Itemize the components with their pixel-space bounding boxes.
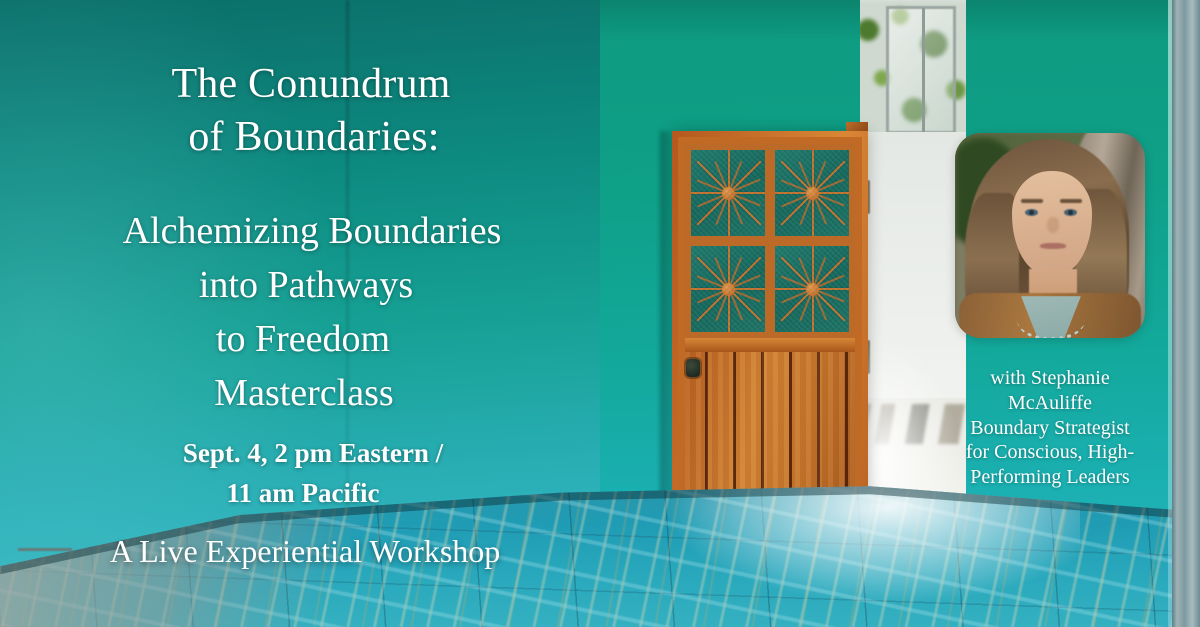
- subtitle-block: Alchemizing Boundaries into Pathways to …: [0, 205, 600, 421]
- subhead-line-4: Masterclass: [0, 367, 600, 421]
- door-glass-panel-group: [685, 144, 855, 338]
- event-schedule: Sept. 4, 2 pm Eastern / 11 am Pacific: [0, 434, 600, 514]
- speaker-line-4: for Conscious, High-: [940, 440, 1160, 465]
- schedule-line-1: Sept. 4, 2 pm Eastern /: [0, 434, 600, 474]
- event-tagline: A Live Experiential Workshop: [0, 533, 600, 570]
- subhead-line-1: Alchemizing Boundaries: [0, 205, 600, 259]
- photo-nose: [1047, 217, 1059, 233]
- photo-eyebrow-right: [1060, 199, 1082, 203]
- door-glass-pane: [775, 246, 849, 332]
- door-middle-rail: [685, 338, 855, 352]
- door-lock-icon: [686, 359, 700, 377]
- right-edge-panel: [1172, 0, 1200, 627]
- speaker-line-2: McAuliffe: [940, 391, 1160, 416]
- photo-mouth: [1040, 243, 1066, 249]
- promotional-banner: The Conundrum of Boundaries: Alchemizing…: [0, 0, 1200, 627]
- door-glass-pane: [691, 150, 765, 236]
- subhead-line-2: into Pathways: [0, 259, 600, 313]
- star-ironwork-icon: [775, 246, 849, 332]
- photo-eye-right: [1064, 209, 1077, 216]
- headline-line-1: The Conundrum: [0, 58, 600, 111]
- speaker-line-1: with Stephanie: [940, 366, 1160, 391]
- door-glass-pane: [691, 246, 765, 332]
- speaker-line-5: Performing Leaders: [940, 465, 1160, 490]
- photo-necklace: [1017, 299, 1085, 338]
- photo-eyebrow-left: [1021, 199, 1043, 203]
- star-ironwork-icon: [691, 246, 765, 332]
- headline-line-2: of Boundaries:: [0, 111, 600, 164]
- star-ironwork-icon: [775, 150, 849, 236]
- speaker-line-3: Boundary Strategist: [940, 416, 1160, 441]
- photo-eye-left: [1025, 209, 1038, 216]
- speaker-photo: [955, 133, 1145, 338]
- star-ironwork-icon: [691, 150, 765, 236]
- subhead-line-3: to Freedom: [0, 313, 600, 367]
- schedule-line-2: 11 am Pacific: [0, 474, 600, 514]
- speaker-credit: with Stephanie McAuliffe Boundary Strate…: [940, 366, 1160, 490]
- exterior-window-frame: [886, 6, 956, 134]
- window-mullion: [922, 8, 925, 132]
- wooden-door: [672, 131, 868, 531]
- door-glass-pane: [775, 150, 849, 236]
- page-title: The Conundrum of Boundaries:: [0, 58, 600, 163]
